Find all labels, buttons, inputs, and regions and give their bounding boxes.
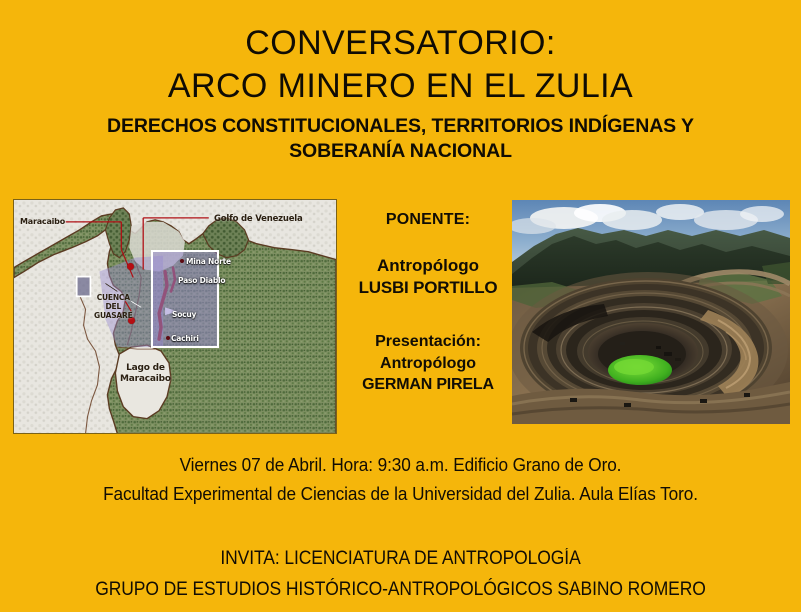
poster-title-line-1: CONVERSATORIO: — [0, 22, 801, 64]
spacer-1 — [348, 230, 508, 255]
poster-subtitle-line-2: SOBERANÍA NACIONAL — [0, 139, 801, 164]
speaker-ponente-role: Antropólogo — [348, 255, 508, 277]
map-label-cuenca-line-1: CUENCA — [94, 293, 133, 302]
map-dot-mina-norte — [180, 259, 184, 263]
event-detail-line-2: Facultad Experimental de Ciencias de la … — [28, 479, 773, 508]
event-details-block: Viernes 07 de Abril. Hora: 9:30 a.m. Edi… — [0, 450, 801, 508]
poster-subtitle-line-1: DERECHOS CONSTITUCIONALES, TERRITORIOS I… — [0, 114, 801, 139]
invitation-block: INVITA: LICENCIATURA DE ANTROPOLOGÍA GRU… — [0, 543, 801, 605]
speaker-ponente-label: PONENTE: — [348, 210, 508, 230]
map-label-lago-line-1: Lago de — [120, 363, 171, 374]
mine-photo-graphic — [512, 200, 790, 424]
map-dot-north — [127, 263, 134, 270]
presentation-label: Presentación: — [348, 331, 508, 353]
speaker-ponente-name: LUSBI PORTILLO — [348, 277, 508, 299]
map-label-mina-norte: Mina Norte — [186, 257, 231, 266]
speaker-info-block: PONENTE: Antropólogo LUSBI PORTILLO Pres… — [348, 199, 508, 395]
event-poster: CONVERSATORIO: ARCO MINERO EN EL ZULIA D… — [0, 0, 801, 612]
open-pit-mine-photo — [512, 200, 790, 424]
map-label-maracaibo: Maracaibo — [20, 217, 65, 226]
map-dot-cachiri — [166, 336, 170, 340]
map-label-cuenca-line-3: GUASARE — [94, 311, 133, 320]
poster-title-block: CONVERSATORIO: ARCO MINERO EN EL ZULIA D… — [0, 22, 801, 164]
map-label-cachiri: Cachiri — [171, 334, 199, 343]
map-label-golfo-de-venezuela: Golfo de Venezuela — [214, 214, 303, 224]
invitation-line-1: INVITA: LICENCIATURA DE ANTROPOLOGÍA — [32, 543, 769, 574]
map-label-cuenca-line-2: DEL — [94, 302, 133, 311]
invitation-line-2: GRUPO DE ESTUDIOS HISTÓRICO-ANTROPOLÓGIC… — [32, 574, 769, 605]
poster-title-line-2: ARCO MINERO EN EL ZULIA — [0, 64, 801, 108]
spacer-2 — [348, 299, 508, 331]
presentation-name: GERMAN PIRELA — [348, 374, 508, 395]
map-label-paso-diablo: Paso Diablo — [178, 276, 225, 285]
map-image: Maracaibo Golfo de Venezuela CUENCA DEL … — [13, 199, 337, 434]
map-label-lago-line-2: Maracaibo — [120, 374, 171, 385]
presentation-role: Antropólogo — [348, 353, 508, 374]
map-label-cuenca-del-guasare: CUENCA DEL GUASARE — [94, 293, 133, 320]
map-label-socuy: Socuy — [172, 310, 196, 319]
map-label-lago-de-maracaibo: Lago de Maracaibo — [120, 363, 171, 385]
event-detail-line-1: Viernes 07 de Abril. Hora: 9:30 a.m. Edi… — [28, 450, 773, 479]
